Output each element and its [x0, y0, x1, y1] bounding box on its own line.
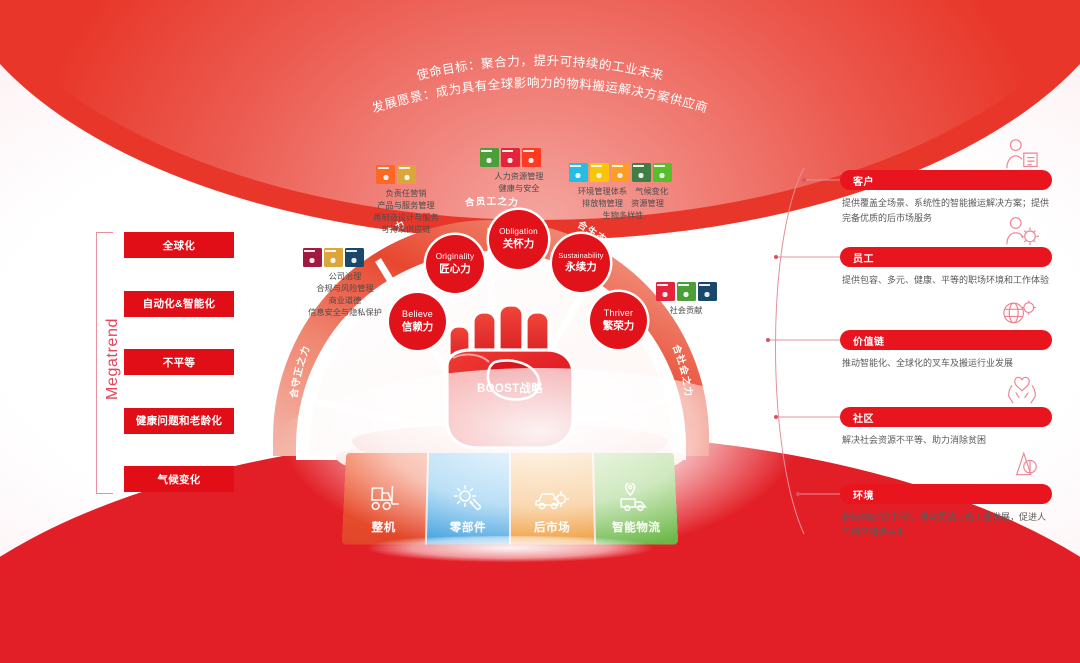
sdg-icon-2 — [611, 163, 630, 182]
petal-topic: 排放物管理 资源管理 — [568, 198, 678, 210]
core-obligation-en: Obligation — [499, 227, 538, 237]
stakeholder-desc-community: 解决社会资源不平等、助力消除贫困 — [840, 433, 1052, 448]
stakeholder-title-environment[interactable]: 环境 — [840, 484, 1052, 504]
megatrend-item-3[interactable]: 健康问题和老龄化 — [124, 408, 234, 434]
forklift-icon — [367, 479, 402, 513]
sdg-icons-society — [645, 282, 727, 301]
core-sustainability-en: Sustainability — [558, 251, 603, 260]
sdg-icon-0 — [656, 282, 675, 301]
petal-topic: 信息安全与隐私保护 — [287, 307, 403, 319]
petal-topics-integrity: 公司治理合规与风险管理商业道德信息安全与隐私保护 — [287, 271, 403, 320]
petal-topic: 环境管理体系 气候变化 — [568, 186, 678, 198]
hands-heart-icon — [1004, 373, 1040, 405]
core-sustainability-cn: 永续力 — [565, 261, 597, 275]
boost-strategy-label: BOOST战略 — [435, 380, 585, 396]
petal-topic: 合规与风险管理 — [287, 283, 403, 295]
car-gear-icon — [534, 479, 570, 513]
sdg-icon-0 — [480, 148, 499, 167]
product-tab-1[interactable]: 零部件 — [426, 453, 511, 544]
petal-topics-society: 社会贡献 — [645, 305, 727, 317]
sdg-icon-1 — [397, 165, 416, 184]
petal-topic: 产品与服务管理 — [350, 200, 462, 212]
leaf-factory-icon — [1004, 448, 1040, 480]
petal-society: 社会贡献 — [645, 282, 727, 317]
sdg-icon-3 — [632, 163, 651, 182]
stakeholder-desc-environment: 积极响应“碳中和”，推动更清洁的工业发展，促进人与自然和谐共生 — [840, 510, 1052, 539]
sdg-icons-ecology — [568, 163, 672, 182]
megatrend-panel: Megatrend 全球化 自动化&智能化 不平等 健康问题和老龄化 气候变化 — [96, 232, 276, 492]
megatrend-item-4[interactable]: 气候变化 — [124, 466, 234, 492]
sdg-icon-4 — [653, 163, 672, 182]
smart-truck-icon — [617, 479, 654, 513]
product-label-1: 零部件 — [450, 519, 487, 535]
product-tab-3[interactable]: 智能物流 — [593, 453, 678, 544]
petal-topic: 负责任营销 — [350, 188, 462, 200]
stakeholder-title-employee[interactable]: 员工 — [840, 247, 1052, 267]
core-believe-cn: 信赖力 — [402, 321, 434, 335]
sdg-icon-1 — [590, 163, 609, 182]
sdg-icons-employee — [464, 148, 556, 167]
megatrend-item-1[interactable]: 自动化&智能化 — [124, 291, 234, 317]
arc-label-employee: 合员工之力 — [464, 195, 519, 209]
petal-topics-employee: 人力资源管理健康与安全 — [464, 171, 574, 195]
sdg-icon-0 — [376, 165, 395, 184]
sdg-icon-0 — [303, 248, 322, 267]
core-originality-cn: 匠心力 — [439, 263, 471, 277]
petal-topic: 公司治理 — [287, 271, 403, 283]
petal-topics-ecology: 环境管理体系 气候变化排放物管理 资源管理生物多样性 — [568, 186, 678, 222]
stakeholder-valuechain: 价值链 推动智能化、全球化的叉车及搬运行业发展 — [840, 330, 1052, 371]
product-tab-0[interactable]: 整机 — [342, 453, 429, 544]
globe-gear-icon — [998, 296, 1040, 328]
sdg-icons-innovation — [350, 165, 442, 184]
petal-topic: 生物多样性 — [568, 210, 678, 222]
sdg-icon-2 — [698, 282, 717, 301]
core-originality[interactable]: Originality 匠心力 — [426, 235, 484, 293]
product-label-3: 智能物流 — [612, 519, 661, 535]
petal-topic: 商业道德 — [287, 295, 403, 307]
petal-integrity: 公司治理合规与风险管理商业道德信息安全与隐私保护 — [287, 248, 403, 320]
megatrend-item-2[interactable]: 不平等 — [124, 349, 234, 375]
employee-gear-icon — [1004, 215, 1040, 247]
core-thriver-cn: 繁荣力 — [603, 320, 635, 334]
product-label-0: 整机 — [371, 519, 396, 535]
core-sustainability[interactable]: Sustainability 永续力 — [552, 234, 610, 292]
core-believe-en: Believe — [402, 309, 433, 320]
core-obligation[interactable]: Obligation 关怀力 — [489, 210, 548, 269]
sdg-icon-1 — [677, 282, 696, 301]
stakeholder-title-customer[interactable]: 客户 — [840, 170, 1052, 190]
stakeholder-panel: 客户 提供覆盖全场景、系统性的智能搬运解决方案；提供完备优质的后市场服务 员工 … — [760, 150, 1060, 555]
infographic-canvas: 使命目标：聚合力，提升可持续的工业未来 发展愿景：成为具有全球影响力的物料搬运解… — [0, 0, 1080, 663]
product-label-2: 后市场 — [534, 519, 571, 535]
sdg-icon-2 — [522, 148, 541, 167]
gear-wrench-icon — [452, 479, 484, 513]
core-obligation-cn: 关怀力 — [503, 238, 535, 252]
stakeholder-environment: 环境 积极响应“碳中和”，推动更清洁的工业发展，促进人与自然和谐共生 — [840, 484, 1052, 539]
megatrend-title: Megatrend — [104, 309, 122, 409]
stakeholder-title-community[interactable]: 社区 — [840, 407, 1052, 427]
sdg-icon-2 — [345, 248, 364, 267]
sdg-icon-0 — [569, 163, 588, 182]
stakeholder-employee: 员工 提供包容、多元、健康、平等的职场环境和工作体验 — [840, 247, 1052, 288]
petal-topic: 社会贡献 — [645, 305, 727, 317]
petal-ecology: 环境管理体系 气候变化排放物管理 资源管理生物多样性 — [568, 163, 678, 222]
product-segment-bar: 整机 零部件 后市场 — [342, 453, 678, 544]
megatrend-item-0[interactable]: 全球化 — [124, 232, 234, 258]
core-originality-en: Originality — [436, 252, 475, 262]
petal-employee: 人力资源管理健康与安全 — [464, 148, 574, 195]
sdg-icon-1 — [501, 148, 520, 167]
stakeholder-desc-valuechain: 推动智能化、全球化的叉车及搬运行业发展 — [840, 356, 1052, 371]
petal-topic: 人力资源管理 — [464, 171, 574, 183]
fist-illustration — [435, 288, 585, 453]
stakeholder-desc-employee: 提供包容、多元、健康、平等的职场环境和工作体验 — [840, 273, 1052, 288]
customer-icon — [1004, 138, 1040, 170]
petal-topic: 健康与安全 — [464, 183, 574, 195]
sdg-icons-integrity — [287, 248, 379, 267]
core-thriver-en: Thriver — [604, 308, 633, 319]
sdg-icon-1 — [324, 248, 343, 267]
stakeholder-community: 社区 解决社会资源不平等、助力消除贫困 — [840, 407, 1052, 448]
core-thriver[interactable]: Thriver 繁荣力 — [590, 292, 647, 349]
product-tab-2[interactable]: 后市场 — [511, 453, 596, 544]
product-bar-glow — [330, 536, 690, 566]
petal-topics-innovation: 负责任营销产品与服务管理再制造设计与服务可持续供应链 — [350, 188, 462, 237]
stakeholder-title-valuechain[interactable]: 价值链 — [840, 330, 1052, 350]
megatrend-list: 全球化 自动化&智能化 不平等 健康问题和老龄化 气候变化 — [124, 232, 234, 492]
petal-topic: 可持续供应链 — [350, 224, 462, 236]
petal-topic: 再制造设计与服务 — [350, 212, 462, 224]
petal-innovation: 负责任营销产品与服务管理再制造设计与服务可持续供应链 — [350, 165, 462, 237]
